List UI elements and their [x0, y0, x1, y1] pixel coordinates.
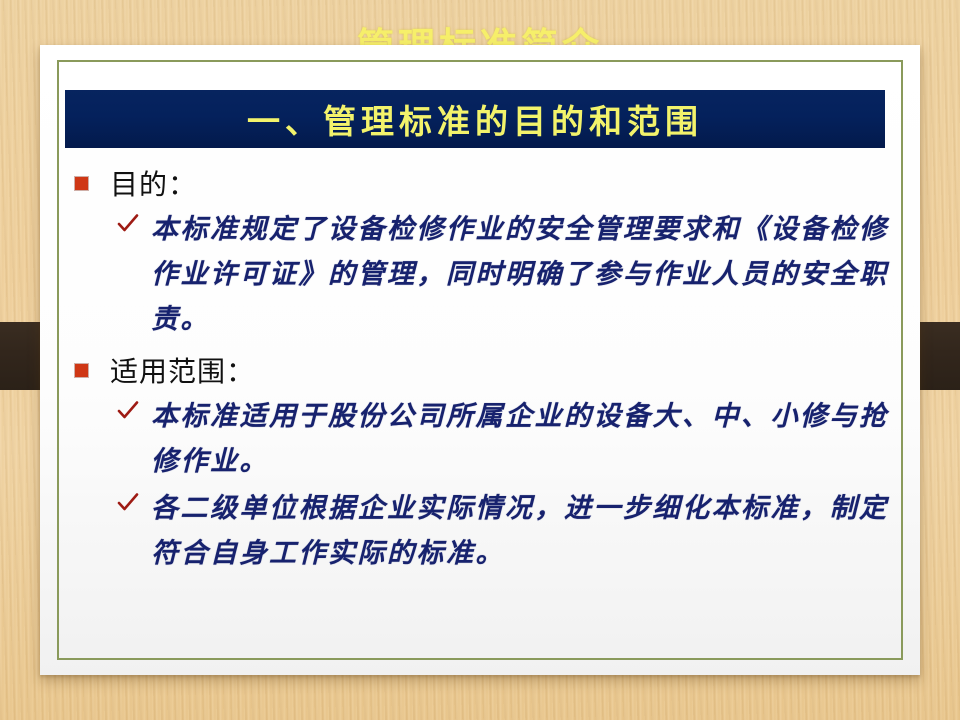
- section-purpose: 目的： 本标准规定了设备检修作业的安全管理要求和《设备检修作业许可证》的管理，同…: [65, 163, 895, 342]
- section-heading-purpose: 目的：: [65, 163, 895, 203]
- section-heading-scope: 适用范围：: [65, 350, 895, 390]
- slide-card: 一、管理标准的目的和范围 目的： 本标准规定了设备检修作业的安全管理要求和《设备…: [40, 45, 920, 675]
- slide-body-content: 目的： 本标准规定了设备检修作业的安全管理要求和《设备检修作业许可证》的管理，同…: [65, 163, 895, 584]
- paragraph-text: 本标准适用于股份公司所属企业的设备大、中、小修与抢修作业。: [151, 394, 895, 484]
- check-mark-icon: [117, 213, 139, 247]
- slide-header-title: 一、管理标准的目的和范围: [247, 95, 703, 143]
- section-heading-label: 适用范围：: [110, 350, 255, 390]
- check-mark-icon: [117, 492, 139, 526]
- paragraph-item: 各二级单位根据企业实际情况，进一步细化本标准，制定符合自身工作实际的标准。: [65, 486, 895, 576]
- section-scope: 适用范围： 本标准适用于股份公司所属企业的设备大、中、小修与抢修作业。: [65, 350, 895, 576]
- square-bullet-icon: [75, 177, 88, 190]
- slide-header-bar: 一、管理标准的目的和范围: [65, 90, 885, 148]
- paragraph-item: 本标准规定了设备检修作业的安全管理要求和《设备检修作业许可证》的管理，同时明确了…: [65, 207, 895, 342]
- check-mark-icon: [117, 400, 139, 434]
- paragraph-text: 本标准规定了设备检修作业的安全管理要求和《设备检修作业许可证》的管理，同时明确了…: [151, 207, 895, 342]
- slide-root: 管理标准简介 一、管理标准的目的和范围 目的：: [0, 0, 960, 720]
- square-bullet-icon: [75, 364, 88, 377]
- section-heading-label: 目的：: [110, 163, 197, 203]
- paragraph-text: 各二级单位根据企业实际情况，进一步细化本标准，制定符合自身工作实际的标准。: [151, 486, 895, 576]
- paragraph-item: 本标准适用于股份公司所属企业的设备大、中、小修与抢修作业。: [65, 394, 895, 484]
